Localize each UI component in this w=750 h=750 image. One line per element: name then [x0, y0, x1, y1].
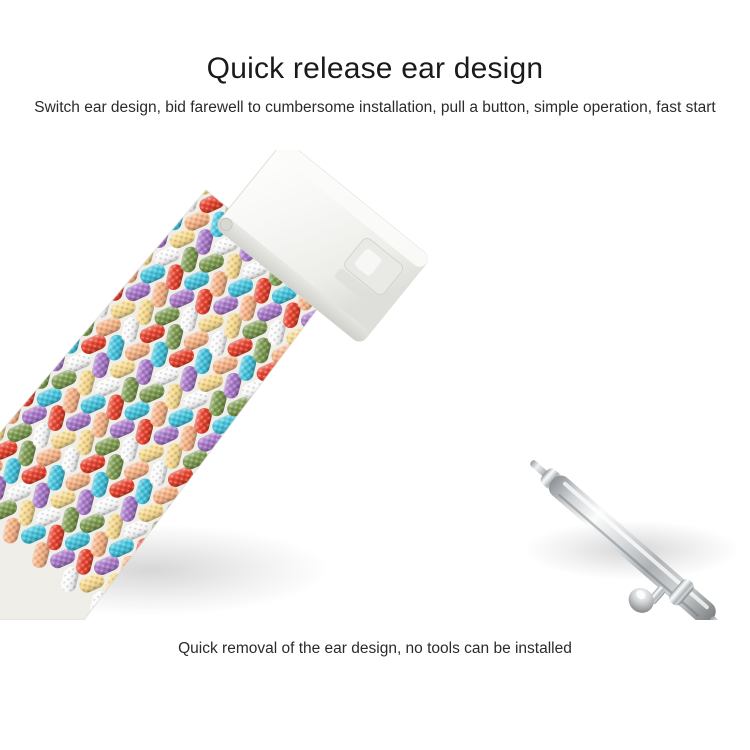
weave-loop — [415, 404, 445, 428]
weave-loop — [357, 355, 387, 379]
weave-loop — [35, 325, 65, 349]
weave-loop — [617, 492, 638, 521]
weave-loop — [560, 586, 590, 610]
weave-loop — [529, 419, 550, 448]
weave-loop — [298, 366, 328, 390]
weave-loop — [459, 411, 489, 435]
weave-loop — [340, 612, 370, 620]
weave-loop — [266, 438, 287, 467]
weave-loop — [426, 542, 447, 571]
weave-loop — [572, 605, 593, 620]
weave-loop — [310, 325, 331, 354]
weave-loop — [397, 458, 418, 487]
weave-loop — [3, 278, 24, 307]
weave-loop — [50, 248, 80, 272]
weave-loop — [109, 178, 139, 202]
weave-loop — [489, 376, 519, 400]
weave-loop — [516, 579, 546, 603]
weave-loop — [589, 610, 619, 620]
weave-loop — [153, 184, 183, 208]
weave-loop — [236, 473, 257, 502]
weave-loop — [339, 409, 360, 438]
weave-loop — [368, 493, 389, 522]
weave-loop — [312, 528, 342, 552]
weave-loop — [313, 349, 343, 373]
weave-loop — [341, 492, 371, 516]
weave-loop — [266, 378, 287, 407]
weave-loop — [397, 518, 418, 547]
weave-loop — [0, 295, 9, 324]
weave-loop — [502, 597, 532, 620]
weave-loop — [427, 423, 448, 452]
weave-loop — [224, 454, 254, 478]
weave-loop — [295, 462, 316, 491]
weave-loop — [222, 431, 243, 460]
weave-loop — [353, 511, 374, 540]
weave-loop — [150, 161, 171, 190]
photo-caption: Quick removal of the ear design, no tool… — [0, 640, 750, 658]
weave-loop — [558, 443, 579, 472]
weave-loop — [0, 378, 20, 402]
weave-loop — [324, 427, 345, 456]
weave-loop — [444, 429, 474, 453]
weave-loop — [124, 160, 154, 184]
weave-loop — [386, 380, 416, 404]
weave-loop — [62, 207, 83, 236]
weave-loop — [236, 413, 257, 442]
weave-loop — [471, 370, 492, 399]
weave-loop — [474, 393, 504, 417]
weave-loop — [327, 391, 357, 415]
weave-loop — [545, 604, 575, 620]
weave-loop — [472, 572, 502, 596]
weave-loop — [413, 321, 434, 350]
weave-loop — [412, 500, 433, 529]
weave-loop — [0, 318, 21, 342]
weave-loop — [382, 535, 403, 564]
weave-loop — [79, 272, 109, 296]
weave-loop — [352, 571, 373, 600]
weave-loop — [313, 408, 343, 432]
weave-loop — [459, 471, 489, 495]
weave-loop — [411, 560, 432, 589]
weave-loop — [633, 617, 663, 620]
weave-loop — [280, 480, 301, 509]
weave-loop — [473, 513, 503, 537]
weave-loop — [471, 430, 492, 459]
weave-loop — [356, 415, 386, 439]
weave-loop — [458, 590, 488, 614]
weave-loop — [367, 553, 388, 582]
product-image-page: Quick release ear design Switch ear desi… — [0, 0, 750, 750]
weave-loop — [660, 618, 681, 620]
weave-loop — [383, 416, 404, 445]
weave-loop — [429, 566, 459, 590]
weave-loop — [396, 577, 417, 606]
weave-loop — [124, 220, 154, 244]
weave-loop — [296, 605, 326, 620]
weave-loop — [251, 396, 272, 425]
weave-loop — [139, 150, 169, 167]
weave-loop — [342, 373, 372, 397]
weave-loop — [65, 230, 95, 254]
weave-loop — [341, 552, 371, 576]
weave-loop — [500, 394, 521, 423]
weave-loop — [514, 496, 535, 525]
weave-loop — [370, 517, 400, 541]
weave-loop — [458, 530, 488, 554]
weave-loop — [470, 549, 491, 578]
weave-loop — [339, 469, 360, 498]
weave-loop — [499, 514, 520, 543]
weave-loop — [238, 616, 268, 620]
weave-loop — [384, 618, 414, 620]
weave-loop — [528, 598, 549, 620]
weave-loop — [473, 453, 503, 477]
weave-loop — [429, 446, 459, 470]
weave-loop — [353, 451, 374, 480]
weave-loop — [212, 174, 242, 198]
weave-loop — [94, 195, 124, 219]
weave-loop — [547, 425, 577, 449]
page-subtitle: Switch ear design, bid farewell to cumbe… — [28, 96, 722, 120]
weave-loop — [401, 302, 431, 326]
weave-loop — [543, 580, 564, 609]
weave-loop — [268, 461, 298, 485]
weave-loop — [354, 392, 375, 421]
weave-loop — [183, 150, 213, 173]
weave-loop — [50, 308, 80, 332]
weave-loop — [371, 397, 401, 421]
weave-loop — [412, 441, 433, 470]
weave-loop — [356, 475, 386, 499]
weave-loop — [168, 167, 198, 191]
weave-loop — [323, 606, 344, 620]
weave-loop — [296, 343, 317, 372]
weave-loop — [444, 488, 474, 512]
weave-loop — [487, 614, 517, 620]
weave-loop — [3, 337, 24, 366]
weave-loop — [342, 433, 372, 457]
weave-loop — [430, 327, 460, 351]
weave-loop — [469, 609, 490, 620]
weave-loop — [281, 360, 302, 389]
weave-loop — [310, 385, 331, 414]
weave-loop — [385, 499, 415, 523]
weave-loop — [165, 150, 186, 172]
weave-loop — [513, 616, 534, 620]
weave-loop — [254, 419, 284, 443]
quick-release-lever-knob — [624, 583, 659, 618]
weave-loop — [62, 267, 83, 296]
weave-loop — [297, 485, 327, 509]
weave-loop — [47, 284, 68, 313]
weave-loop — [369, 374, 390, 403]
weave-loop — [326, 510, 356, 534]
weave-loop — [239, 496, 269, 520]
weave-loop — [91, 232, 112, 261]
weave-loop — [17, 320, 38, 349]
weave-loop — [440, 584, 461, 613]
weave-loop — [325, 367, 346, 396]
weave-loop — [488, 495, 518, 519]
weave-loop — [47, 225, 68, 254]
weave-loop — [443, 548, 473, 572]
weave-loop — [484, 591, 505, 620]
weave-loop — [429, 506, 459, 530]
weave-loop — [0, 396, 6, 420]
weave-loop — [485, 531, 506, 560]
weave-loop — [383, 356, 404, 385]
weave-loop — [6, 301, 36, 325]
weave-loop — [430, 387, 460, 411]
weave-loop — [587, 587, 608, 616]
weave-loop — [399, 601, 429, 620]
weave-loop — [283, 443, 313, 467]
weave-loop — [0, 336, 6, 360]
weave-loop — [532, 502, 562, 526]
weave-loop — [33, 242, 54, 271]
weave-loop — [107, 154, 128, 183]
weave-loop — [265, 497, 286, 526]
weave-loop — [209, 472, 239, 496]
weave-loop — [441, 465, 462, 494]
weave-loop — [338, 529, 359, 558]
weave-loop — [414, 524, 444, 548]
weave-loop — [386, 320, 416, 344]
weave-loop — [398, 339, 419, 368]
weave-loop — [180, 150, 201, 155]
weave-loop — [499, 573, 520, 602]
weave-loop — [227, 156, 257, 180]
weave-loop — [414, 583, 444, 607]
weave-loop — [283, 384, 313, 408]
weave-loop — [64, 290, 94, 314]
weave-loop — [398, 398, 419, 427]
weave-loop — [400, 422, 430, 446]
weave-loop — [339, 350, 360, 379]
weave-loop — [136, 179, 157, 208]
weave-loop — [269, 401, 299, 425]
weave-loop — [456, 388, 477, 417]
weave-loop — [5, 361, 35, 385]
weave-loop — [503, 418, 533, 442]
weave-loop — [426, 483, 447, 512]
weave-loop — [441, 525, 462, 554]
weave-loop — [106, 214, 127, 243]
weave-loop — [356, 534, 386, 558]
weave-loop — [588, 468, 609, 497]
weave-loop — [382, 476, 403, 505]
weave-loop — [400, 481, 430, 505]
weave-loop — [367, 613, 388, 620]
weave-loop — [456, 447, 477, 476]
weave-loop — [416, 345, 446, 369]
weave-loop — [338, 588, 359, 617]
weave-loop — [399, 541, 429, 565]
weave-loop — [109, 237, 139, 261]
weave-loop — [616, 612, 637, 620]
weave-loop — [20, 343, 50, 367]
weave-loop — [295, 402, 316, 431]
weave-loop — [77, 249, 98, 278]
weave-loop — [485, 472, 506, 501]
weave-loop — [121, 196, 142, 225]
weave-loop — [485, 412, 506, 441]
weave-loop — [502, 477, 532, 501]
page-title: Quick release ear design — [0, 52, 750, 87]
weave-loop — [605, 473, 635, 497]
weave-loop — [35, 266, 65, 290]
weave-loop — [518, 400, 548, 424]
weave-loop — [372, 338, 402, 362]
weave-loop — [94, 255, 124, 279]
weave-loop — [138, 202, 168, 226]
weave-loop — [427, 363, 448, 392]
weave-loop — [92, 172, 113, 201]
weave-loop — [279, 599, 300, 620]
weave-loop — [283, 503, 313, 527]
weave-loop — [239, 437, 269, 461]
weave-loop — [455, 567, 476, 596]
weave-loop — [21, 283, 51, 307]
weave-loop — [500, 454, 521, 483]
weave-loop — [324, 487, 345, 516]
weave-loop — [443, 608, 473, 620]
weave-loop — [327, 450, 357, 474]
weave-loop — [251, 455, 272, 484]
weave-loop — [442, 405, 463, 434]
weave-loop — [195, 489, 225, 513]
weave-loop — [280, 420, 301, 449]
weave-loop — [18, 260, 39, 289]
product-photo — [0, 150, 750, 620]
weave-loop — [209, 150, 230, 179]
weave-loop — [264, 617, 285, 620]
weave-loop — [32, 302, 53, 331]
weave-loop — [634, 498, 664, 522]
weave-loop — [412, 381, 433, 410]
weave-loop — [401, 362, 431, 386]
weave-loop — [386, 439, 416, 463]
weave-loop — [487, 555, 517, 579]
weave-loop — [445, 369, 475, 393]
weave-loop — [311, 587, 341, 611]
weave-loop — [721, 571, 750, 595]
weave-loop — [415, 464, 445, 488]
weave-loop — [425, 602, 446, 620]
weave-loop — [370, 576, 400, 600]
weave-loop — [326, 570, 356, 594]
weave-loop — [80, 213, 110, 237]
weave-loop — [355, 594, 385, 618]
weave-loop — [381, 595, 402, 620]
weave-loop — [385, 559, 415, 583]
weave-loop — [371, 457, 401, 481]
product-photo-illustration — [0, 150, 750, 620]
weave-loop — [455, 507, 476, 536]
weave-loop — [309, 504, 330, 533]
weave-loop — [459, 351, 489, 375]
weave-loop — [488, 435, 518, 459]
weave-loop — [470, 489, 491, 518]
weave-loop — [77, 189, 98, 218]
weave-loop — [253, 479, 283, 503]
weave-loop — [197, 150, 227, 156]
weave-loop — [442, 346, 463, 375]
weave-loop — [312, 468, 342, 492]
weave-loop — [121, 150, 142, 165]
weave-loop — [221, 491, 242, 520]
weave-loop — [576, 449, 606, 473]
weave-loop — [298, 426, 328, 450]
weave-loop — [309, 445, 330, 474]
weave-loop — [368, 434, 389, 463]
weave-loop — [0, 355, 9, 384]
